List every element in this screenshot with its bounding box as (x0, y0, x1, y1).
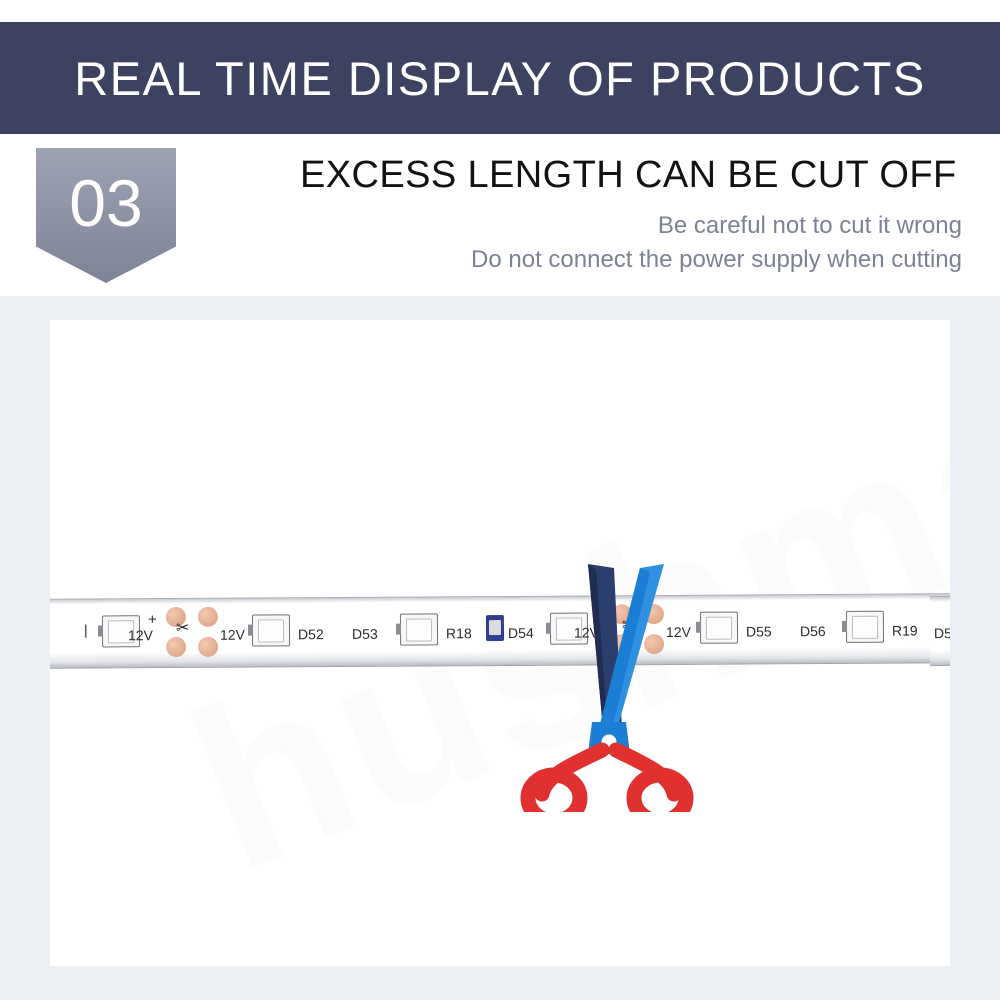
strip-resistor-label: R18 (446, 625, 472, 641)
step-number: 03 (69, 148, 142, 236)
section-headline: EXCESS LENGTH CAN BE CUT OFF (300, 154, 980, 197)
polarity-plus-icon: + (148, 611, 157, 628)
led-chip (700, 612, 738, 644)
led-chip (846, 611, 884, 643)
strip-diode-label: D57 (934, 625, 950, 641)
scissors-icon (518, 562, 698, 812)
copper-pad (166, 637, 186, 657)
led-strip-continued: D57 (930, 596, 950, 666)
photo-frame: hushmay | + 12V ✂ 12V D52 D53 (0, 296, 1000, 1000)
step-number-badge: 03 (36, 148, 176, 283)
strip-voltage-label: 12V (220, 627, 245, 643)
section-subtitle-line2: Do not connect the power supply when cut… (471, 246, 962, 274)
strip-diode-label: D53 (352, 626, 378, 642)
strip-diode-label: D52 (298, 626, 324, 642)
resistor-component (486, 615, 504, 641)
cut-mark-scissors-icon: ✂ (176, 621, 190, 637)
copper-pad (198, 607, 218, 627)
led-chip (400, 613, 438, 645)
led-chip (252, 614, 290, 646)
strip-resistor-label: R19 (892, 622, 918, 638)
strip-label-edge: | (84, 622, 88, 638)
strip-diode-label: D55 (746, 623, 772, 639)
copper-pad (198, 637, 218, 657)
section-header: 03 EXCESS LENGTH CAN BE CUT OFF Be caref… (0, 134, 1000, 294)
page-title: REAL TIME DISPLAY OF PRODUCTS (74, 51, 925, 106)
strip-diode-label: D56 (800, 623, 826, 639)
strip-voltage-label: 12V (128, 627, 153, 643)
product-photo: hushmay | + 12V ✂ 12V D52 D53 (50, 320, 950, 966)
section-subtitle-line1: Be careful not to cut it wrong (658, 212, 962, 240)
led-strip: | + 12V ✂ 12V D52 D53 R18 (50, 593, 950, 669)
header-banner: REAL TIME DISPLAY OF PRODUCTS (0, 22, 1000, 134)
